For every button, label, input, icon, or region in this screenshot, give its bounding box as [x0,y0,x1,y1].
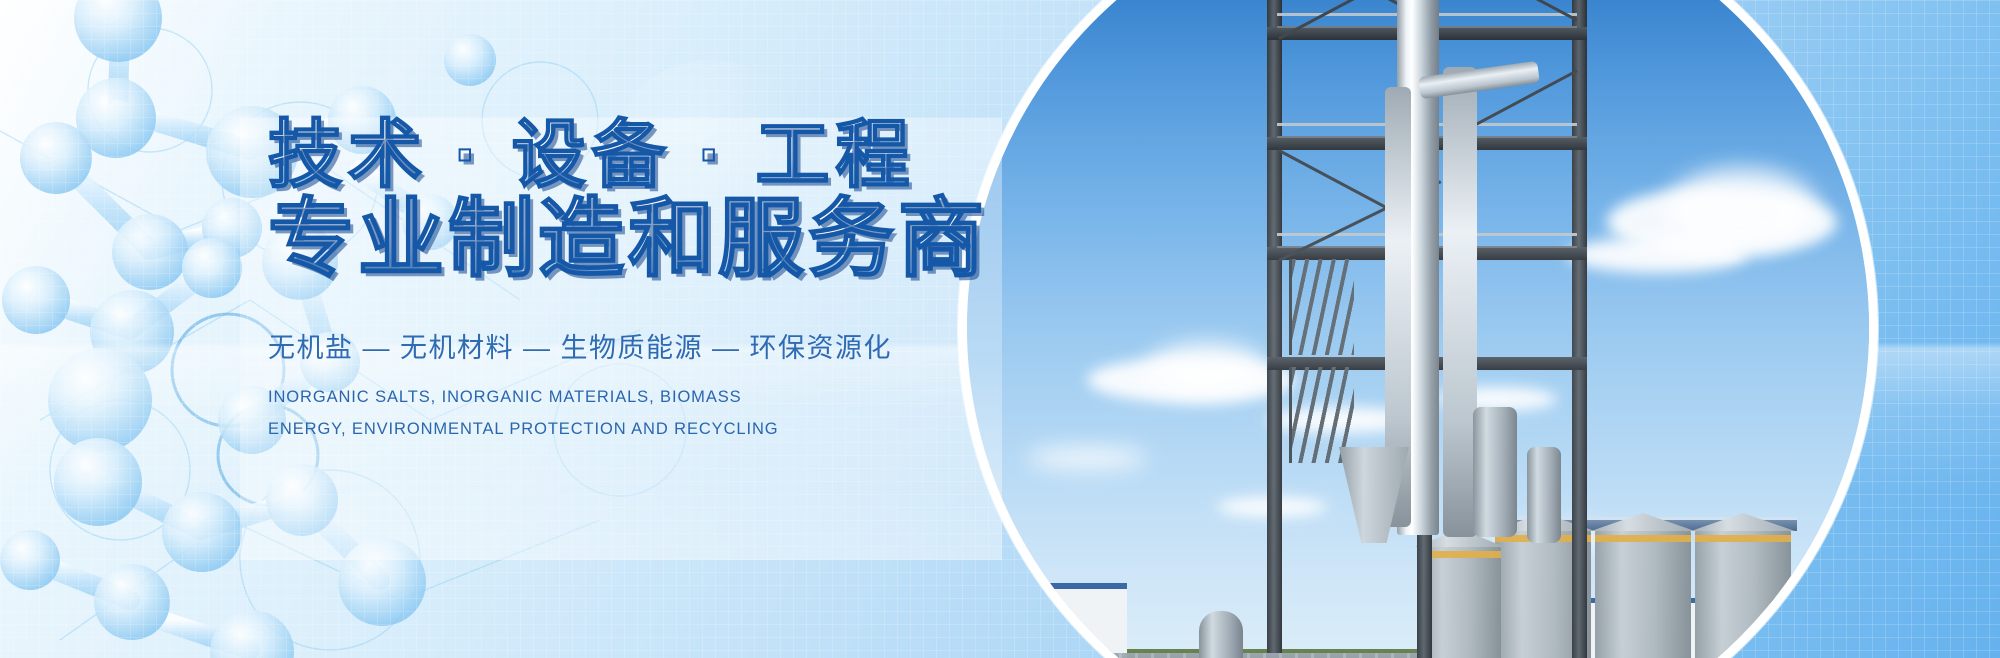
subtitle-english: INORGANIC SALTS, INORGANIC MATERIALS, BI… [268,381,788,445]
process-pipe [1443,67,1477,537]
industrial-distillation-tower-photo [967,0,1869,658]
process-vessel [1473,407,1517,537]
storage-silo [1695,529,1791,658]
site-building-left [967,583,1127,658]
pipe-rack [1087,653,1417,658]
industrial-photo-medallion [958,0,1878,658]
hero-banner: 技术 · 设备 · 工程 专业制造和服务商 无机盐 — 无机材料 — 生物质能源… [0,0,2000,658]
storage-silo [1595,529,1691,658]
banner-copy: 技术 · 设备 · 工程 专业制造和服务商 无机盐 — 无机材料 — 生物质能源… [268,118,988,445]
subtitle-chinese: 无机盐 — 无机材料 — 生物质能源 — 环保资源化 [268,326,988,365]
access-stairs [1289,259,1354,355]
cyclone-separator [1199,611,1243,658]
headline-line-1: 技术 · 设备 · 工程 [268,118,988,192]
process-vessel [1527,447,1561,543]
headline-line-2: 专业制造和服务商 [268,196,988,282]
